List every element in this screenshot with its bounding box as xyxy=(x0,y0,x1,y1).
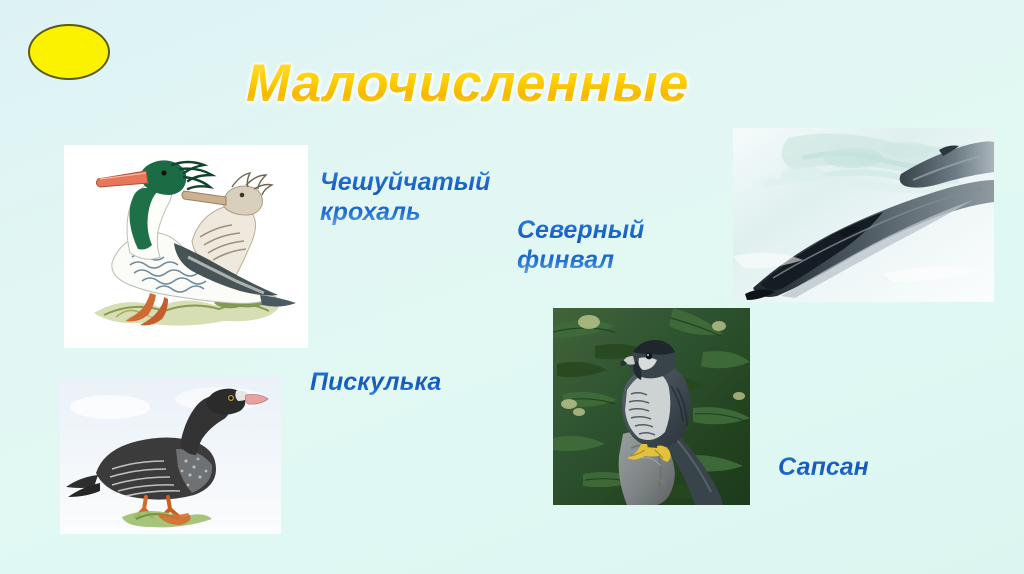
merganser-illustration xyxy=(64,145,308,348)
yellow-ellipse-icon xyxy=(28,24,110,80)
image-goose xyxy=(60,377,281,534)
page-title: Малочисленные xyxy=(246,56,689,112)
image-peregrine-falcon xyxy=(553,308,750,505)
caption-merganser: Чешуйчатый крохаль xyxy=(320,168,505,227)
goose-illustration xyxy=(60,377,281,534)
fin-whale-photo xyxy=(733,128,994,302)
caption-peregrine: Сапсан xyxy=(778,453,958,483)
image-fin-whale xyxy=(733,128,994,302)
image-merganser xyxy=(64,145,308,348)
caption-goose: Пискулька xyxy=(310,368,482,398)
presentation-slide: Малочисленные xyxy=(0,0,1024,574)
caption-fin-whale: Северный финвал xyxy=(517,216,697,275)
peregrine-falcon-photo xyxy=(553,308,750,505)
